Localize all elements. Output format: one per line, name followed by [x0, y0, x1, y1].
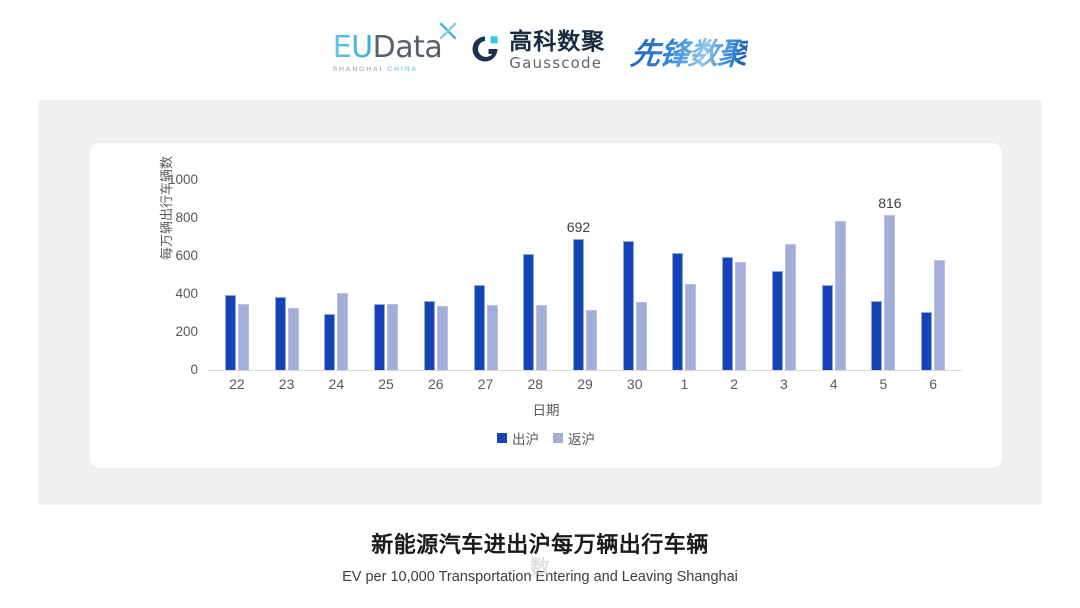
bar-back — [238, 304, 249, 370]
bar-group — [411, 180, 461, 370]
x-axis-tick-label: 29 — [563, 376, 607, 392]
bar-back — [934, 260, 945, 370]
y-axis-tick-label: 200 — [146, 325, 198, 339]
bar-out — [672, 253, 683, 370]
bar-back — [337, 293, 348, 370]
bar-back — [735, 262, 746, 370]
x-axis-tick-label: 5 — [861, 376, 905, 392]
screenshot-root: EU Data SHANGHAI CHINA — [0, 0, 1080, 608]
legend-item-back[interactable]: 返沪 — [553, 428, 595, 448]
bar-group: 692 — [560, 180, 610, 370]
bar-back — [785, 244, 796, 370]
x-axis-tick-label: 25 — [364, 376, 408, 392]
bar-out — [474, 285, 485, 371]
bar-group — [510, 180, 560, 370]
chart-legend: 出沪返沪 — [90, 428, 1002, 448]
bar-value-label: 692 — [567, 219, 590, 235]
bar-group — [809, 180, 859, 370]
x-axis-tick-label: 2 — [712, 376, 756, 392]
bar-out — [225, 295, 236, 370]
bar-group: 816 — [859, 180, 909, 370]
x-axis-tick-label: 4 — [812, 376, 856, 392]
x-axis-line — [208, 370, 962, 371]
bar-group — [709, 180, 759, 370]
g-circle-icon — [468, 32, 502, 71]
bar-out — [871, 301, 882, 370]
evdata-tagline-shanghai: SHANGHAI — [333, 66, 384, 73]
y-axis-tick-label: 800 — [146, 211, 198, 225]
bar-back — [288, 308, 299, 370]
bar-back — [536, 305, 547, 370]
bar-group — [461, 180, 511, 370]
bar-out — [623, 241, 634, 370]
x-axis-tick-label: 30 — [613, 376, 657, 392]
page-subtitle: EV per 10,000 Transportation Entering an… — [0, 569, 1080, 585]
bar-group — [610, 180, 660, 370]
footer: 新能源汽车进出沪每万辆出行车辆 数 EV per 10,000 Transpor… — [0, 527, 1080, 585]
x-axis-title: 日期 — [90, 399, 1002, 419]
bar-out — [324, 314, 335, 370]
bar-out — [772, 271, 783, 370]
y-axis-tick-label: 400 — [146, 287, 198, 301]
x-axis-tick-label: 27 — [464, 376, 508, 392]
x-axis-tick-label: 6 — [911, 376, 955, 392]
bar-value-label: 816 — [878, 195, 901, 211]
bar-back — [586, 310, 597, 370]
xianfeng-wordmark: 先锋数聚 — [629, 29, 750, 73]
logo-bar: EU Data SHANGHAI CHINA — [0, 22, 1080, 80]
gausscode-en-text: Gausscode — [509, 56, 605, 71]
x-axis-tick-label: 22 — [215, 376, 259, 392]
bar-out — [424, 301, 435, 370]
page-title: 新能源汽车进出沪每万辆出行车辆 — [0, 527, 1080, 559]
bar-out — [374, 304, 385, 370]
x-axis-tick-label: 3 — [762, 376, 806, 392]
xianfeng-logo: 先锋数聚 — [631, 29, 747, 73]
evdata-wordmark: EU Data — [333, 30, 443, 65]
bar-back — [835, 221, 846, 370]
bar-group — [759, 180, 809, 370]
y-axis-tick-label: 0 — [146, 363, 198, 377]
bar-back — [387, 304, 398, 371]
gausscode-wordmark: 高科数聚 Gausscode — [509, 31, 605, 71]
bar-back: 816 — [884, 215, 895, 370]
bar-group — [361, 180, 411, 370]
legend-swatch-icon — [497, 433, 507, 443]
evdata-logo: EU Data SHANGHAI CHINA — [333, 30, 443, 73]
legend-swatch-icon — [553, 433, 563, 443]
legend-item-out[interactable]: 出沪 — [497, 428, 539, 448]
bar-group — [212, 180, 262, 370]
x-mark-icon — [438, 21, 458, 46]
evdata-ev-text: EU — [333, 30, 373, 65]
bar-group — [311, 180, 361, 370]
x-axis-tick-label: 28 — [513, 376, 557, 392]
bar-back — [636, 302, 647, 370]
bar-group — [908, 180, 958, 370]
bar-out — [822, 285, 833, 370]
evdata-tagline: SHANGHAI CHINA — [333, 66, 418, 73]
x-axis-tick-label: 24 — [314, 376, 358, 392]
chart-card: 每万辆出行车辆数 02004006008001000 692816 222324… — [90, 143, 1002, 468]
y-axis-tick-label: 600 — [146, 249, 198, 263]
bar-group — [660, 180, 710, 370]
gausscode-logo: 高科数聚 Gausscode — [468, 31, 605, 71]
x-axis-tick-label: 26 — [414, 376, 458, 392]
evdata-tagline-china: CHINA — [387, 66, 418, 73]
plot-area: 692816 — [212, 180, 958, 370]
bar-chart: 每万辆出行车辆数 02004006008001000 692816 222324… — [90, 143, 1002, 468]
evdata-data-text: Data — [373, 30, 443, 65]
bar-out — [722, 257, 733, 370]
x-axis-tick-label: 1 — [662, 376, 706, 392]
bar-out — [523, 254, 534, 370]
legend-label: 出沪 — [512, 428, 539, 448]
bar-out — [275, 297, 286, 370]
y-axis-tick-label: 1000 — [146, 173, 198, 187]
bar-out — [921, 312, 932, 370]
legend-label: 返沪 — [568, 428, 595, 448]
bar-group — [262, 180, 312, 370]
gausscode-cn-text: 高科数聚 — [509, 31, 605, 54]
bar-back — [437, 306, 448, 370]
bar-back — [685, 284, 696, 370]
bar-out: 692 — [573, 239, 584, 370]
x-axis-tick-label: 23 — [265, 376, 309, 392]
bar-back — [487, 305, 498, 370]
